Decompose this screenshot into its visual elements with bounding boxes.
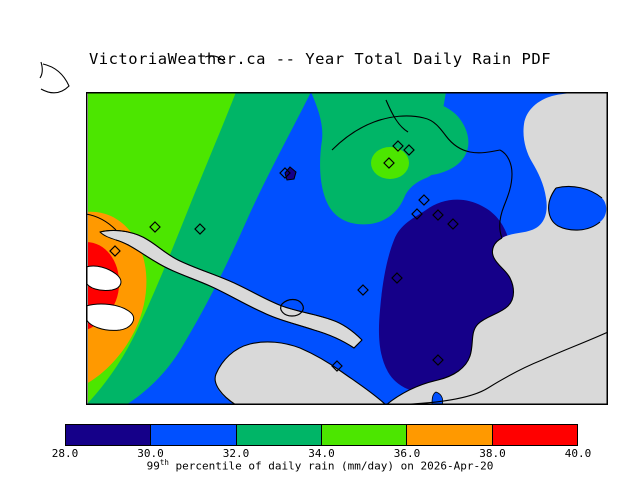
- colorbar-segment-32-34[interactable]: [236, 425, 321, 445]
- colorbar-segment-38-40[interactable]: [492, 425, 577, 445]
- colorbar-segment-28-30[interactable]: [66, 425, 150, 445]
- caption-prefix: 99: [147, 460, 160, 473]
- screenshot-root: VictoriaWeather.ca -- Year Total Daily R…: [0, 0, 640, 480]
- rain-colorbar[interactable]: [65, 424, 578, 446]
- colorbar-segment-36-38[interactable]: [406, 425, 491, 445]
- colorbar-segment-30-32[interactable]: [150, 425, 235, 445]
- page-title: VictoriaWeather.ca -- Year Total Daily R…: [0, 50, 640, 68]
- colorbar-segment-34-36[interactable]: [321, 425, 406, 445]
- caption-rest: percentile of daily rain (mm/day) on 202…: [169, 460, 494, 473]
- map-canvas: [86, 92, 608, 405]
- rain-contour-map[interactable]: [86, 92, 608, 405]
- colorbar-caption: 99th percentile of daily rain (mm/day) o…: [0, 458, 640, 473]
- caption-superscript: th: [160, 458, 169, 467]
